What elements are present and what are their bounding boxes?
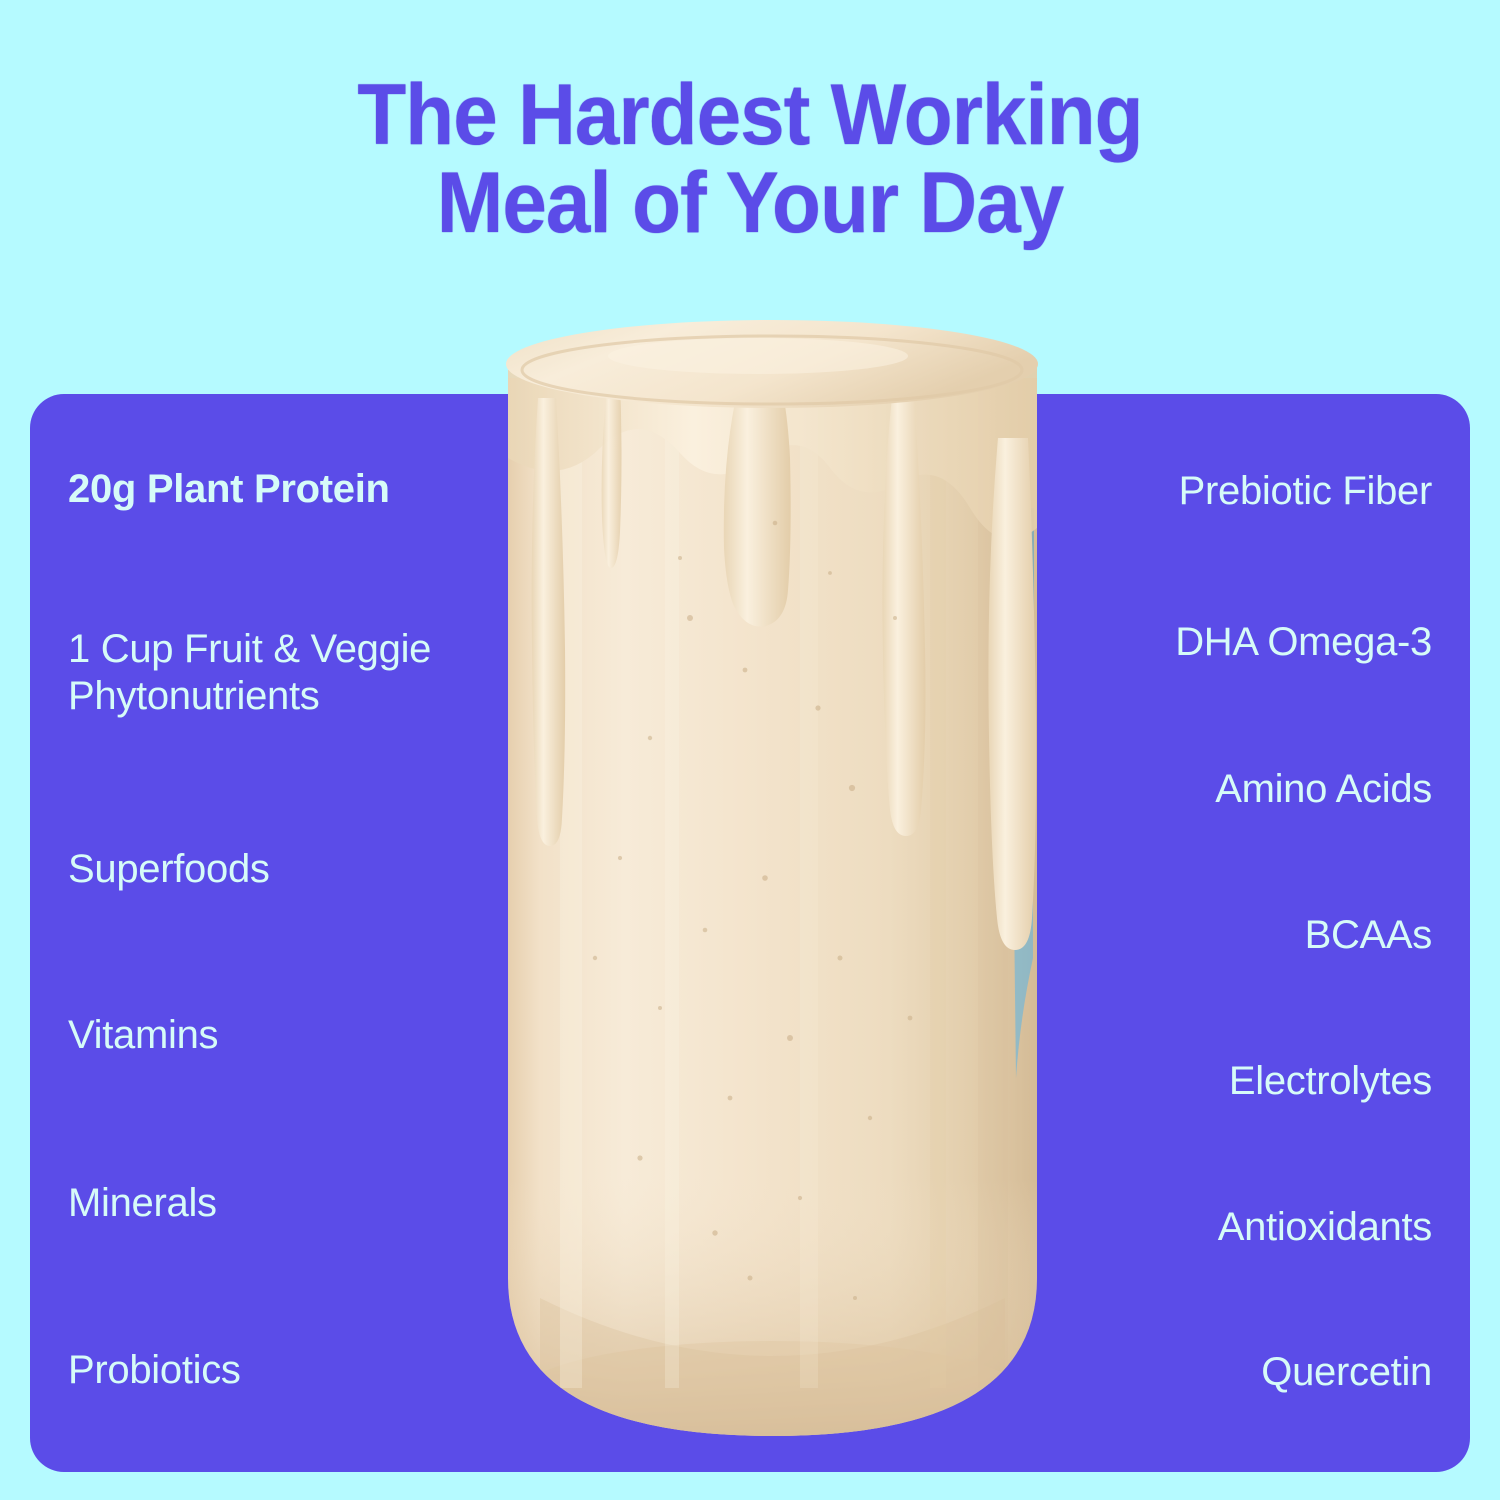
smoothie-surface-highlight	[608, 338, 908, 374]
benefit-phytonutrients: 1 Cup Fruit & Veggie Phytonutrients	[68, 626, 538, 720]
headline-line-2: Meal of Your Day	[53, 160, 1448, 248]
benefit-quercetin: Quercetin	[1261, 1349, 1432, 1396]
smoothie-glass-illustration	[500, 318, 1045, 1436]
benefit-probiotics: Probiotics	[68, 1347, 241, 1394]
benefit-plant-protein: 20g Plant Protein	[68, 466, 390, 513]
benefit-vitamins: Vitamins	[68, 1012, 218, 1059]
benefit-dha-omega-3: DHA Omega-3	[1175, 619, 1432, 666]
benefit-amino-acids: Amino Acids	[1215, 766, 1432, 813]
benefit-bcaas: BCAAs	[1305, 912, 1432, 959]
benefit-antioxidants: Antioxidants	[1218, 1204, 1432, 1251]
product-image	[500, 318, 1045, 1436]
benefit-electrolytes: Electrolytes	[1229, 1058, 1432, 1105]
headline-line-1: The Hardest Working	[357, 67, 1142, 163]
page-title: The Hardest Working Meal of Your Day	[53, 72, 1448, 247]
benefit-minerals: Minerals	[68, 1180, 217, 1227]
benefit-prebiotic-fiber: Prebiotic Fiber	[1179, 468, 1432, 515]
benefit-superfoods: Superfoods	[68, 846, 270, 893]
